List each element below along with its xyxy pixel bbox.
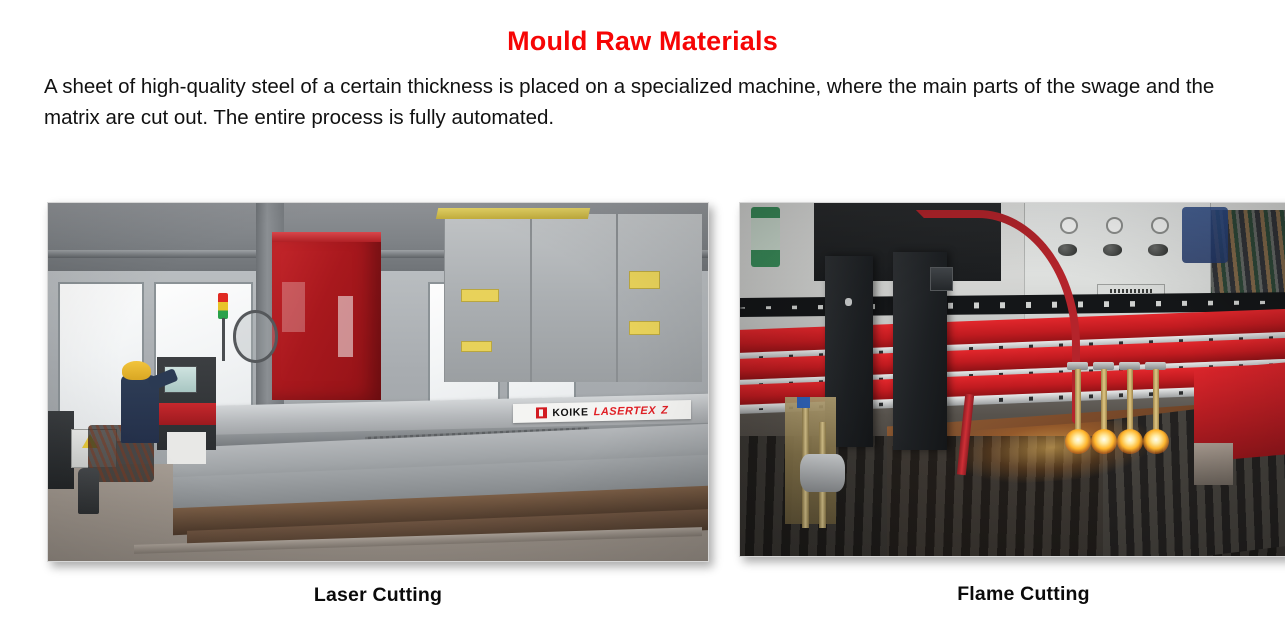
signal-tower-pole bbox=[222, 318, 225, 361]
control-knob bbox=[1148, 244, 1167, 256]
cover-latch bbox=[845, 298, 852, 306]
photo-laser-cutting: KOIKE LASERTEX Z bbox=[47, 202, 709, 562]
intro-paragraph: A sheet of high-quality steel of a certa… bbox=[0, 57, 1266, 133]
warning-label bbox=[461, 341, 493, 352]
gas-cylinder bbox=[78, 468, 99, 515]
cabinet-seam bbox=[616, 214, 618, 382]
warning-label bbox=[629, 271, 661, 289]
cabinet-top-cover bbox=[436, 208, 590, 219]
figure-flame-cutting: Flame Cutting bbox=[739, 202, 1285, 606]
console-lower-panel bbox=[167, 432, 207, 464]
control-knob bbox=[1103, 244, 1122, 256]
metal-block bbox=[1194, 443, 1234, 485]
koike-logo-icon bbox=[537, 407, 548, 418]
cabinet-seam bbox=[530, 214, 532, 382]
page-title: Mould Raw Materials bbox=[0, 0, 1285, 57]
round-drum bbox=[800, 454, 845, 493]
signal-tower-light bbox=[218, 293, 228, 320]
yellow-hard-hat bbox=[122, 361, 151, 380]
blue-fitting bbox=[797, 397, 811, 408]
figure-laser-cutting: KOIKE LASERTEX Z Laser Cutting bbox=[47, 202, 709, 607]
pressure-gauge-icon bbox=[1060, 217, 1078, 234]
blue-object bbox=[1182, 207, 1227, 263]
resonator-label-strip bbox=[338, 296, 353, 357]
control-knob bbox=[1058, 244, 1077, 256]
machine-brand-plate: KOIKE LASERTEX Z bbox=[513, 400, 691, 423]
caption-flame-cutting: Flame Cutting bbox=[739, 583, 1285, 606]
hose-reel bbox=[233, 310, 279, 363]
photo-flame-cutting bbox=[739, 202, 1285, 557]
warning-label bbox=[629, 321, 661, 334]
figure-row: KOIKE LASERTEX Z Laser Cutting bbox=[0, 186, 1285, 606]
console-red-panel bbox=[157, 403, 216, 424]
pressure-gauge-icon bbox=[1151, 217, 1169, 234]
green-valve bbox=[751, 207, 779, 267]
brand-name: KOIKE bbox=[553, 406, 589, 419]
brand-variant: Z bbox=[661, 404, 668, 416]
brand-model: LASERTEX bbox=[594, 404, 656, 417]
warning-label bbox=[461, 289, 499, 302]
resonator-top-panel bbox=[272, 232, 381, 243]
caption-laser-cutting: Laser Cutting bbox=[47, 584, 709, 607]
resonator-access-panel bbox=[282, 282, 305, 332]
cutting-flame bbox=[1065, 429, 1091, 454]
pressure-gauge-icon bbox=[1106, 217, 1124, 234]
